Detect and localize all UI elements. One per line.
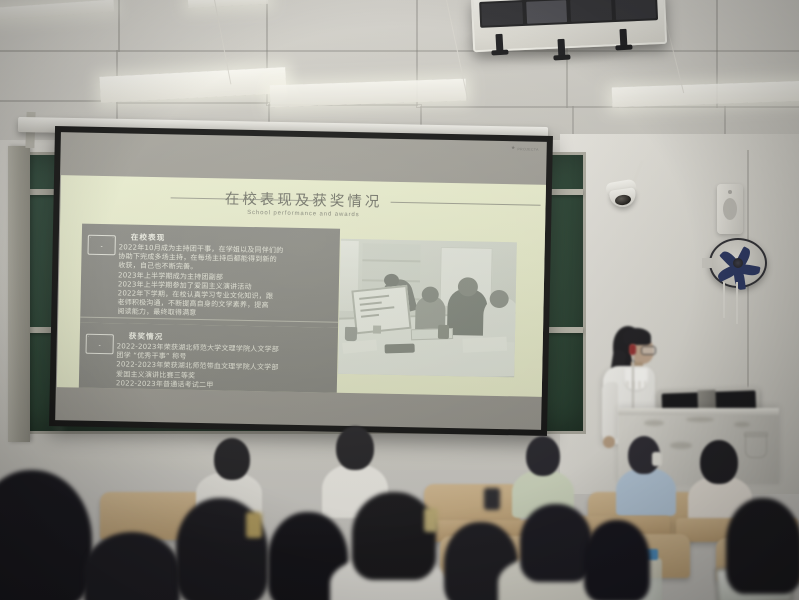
lecture-hall-photo: ★ PROJECTA 在校表现及获奖情况 School performance … <box>0 0 799 600</box>
presenter-ruffled-collar <box>623 368 649 392</box>
slide-block-awards: 获奖情况 2022-2023年荣获湖北师范大学文理学院人文学部 团学 “优秀干事… <box>79 323 338 397</box>
slide-title-group: 在校表现及获奖情况 School performance and awards <box>60 184 546 222</box>
audience-head <box>336 426 374 470</box>
audience-head <box>584 520 650 600</box>
hair-clip <box>484 488 500 510</box>
envelope-icon <box>87 235 115 256</box>
projector-mount-bolt <box>619 29 627 49</box>
audience-head <box>526 436 560 476</box>
audience-head <box>726 498 799 594</box>
hair-clip <box>424 508 438 532</box>
projector-mount-bolt <box>557 39 565 59</box>
audience-head <box>84 532 180 600</box>
presenter-hand <box>603 436 615 448</box>
audience-head <box>700 440 738 484</box>
bucket-icon <box>745 434 767 458</box>
presenter-arm <box>602 382 618 440</box>
fan-pull-cord[interactable] <box>736 282 738 324</box>
wall-speaker <box>717 184 743 234</box>
microphone-icon <box>629 344 636 355</box>
star-icon: ★ <box>511 146 516 151</box>
glasses-icon <box>641 346 656 355</box>
fan-pull-cord[interactable] <box>723 282 725 318</box>
slide-block-performance: 在校表现 2022年10月成为主持团干事，在学姐以及同伴们的 协助下完成多场主持… <box>80 224 340 328</box>
presentation-slide: 在校表现及获奖情况 School performance and awards … <box>57 175 547 397</box>
projection-screen: ★ PROJECTA 在校表现及获奖情况 School performance … <box>49 126 553 436</box>
presenter-hair-front <box>623 328 651 345</box>
projector-mount-bolt <box>495 34 503 54</box>
slide-photo <box>338 239 517 378</box>
audience-shoulders <box>616 468 676 516</box>
audience-head <box>520 504 592 582</box>
hair-clip <box>652 452 662 466</box>
hair-clip <box>246 512 262 538</box>
screen-brand-logo: ★ PROJECTA <box>511 146 539 152</box>
audience-head <box>352 492 436 580</box>
wall-mounted-fan <box>709 238 763 284</box>
envelope-icon <box>85 334 113 355</box>
chalkboard-frame <box>8 146 30 442</box>
audience-head <box>0 470 92 600</box>
audience-head <box>214 438 250 480</box>
